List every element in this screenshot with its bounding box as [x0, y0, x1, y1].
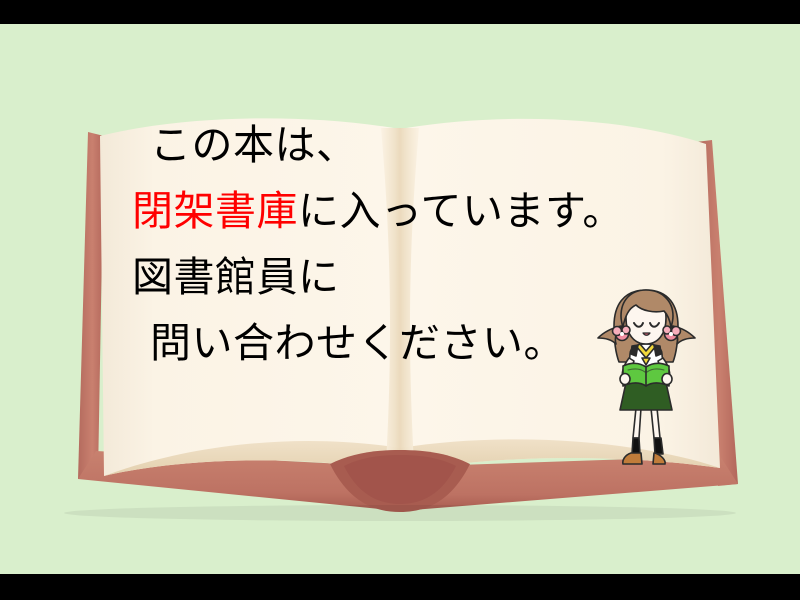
girl-mouth: [643, 333, 650, 335]
girl-collar-dark-right: [654, 345, 661, 356]
slide-canvas: この本は、 閉架書庫に入っています。 図書館員に 問い合わせください。: [0, 24, 800, 574]
message-line-2-text: に入っています。: [298, 187, 624, 235]
girl-hand-right: [662, 374, 672, 385]
girl-hand-left: [620, 374, 630, 385]
message-line-3-text: 図書館員に: [132, 253, 340, 301]
girl-leg-right: [651, 408, 660, 438]
girl-reading-illustration: [592, 282, 700, 482]
girl-sock-left: [632, 438, 640, 454]
letterbox-bottom: [0, 574, 800, 600]
girl-sock-right: [654, 438, 663, 454]
message-highlight-closed-stacks: 閉架書庫: [132, 187, 298, 235]
book-drop-shadow: [64, 505, 736, 521]
slide-stage: この本は、 閉架書庫に入っています。 図書館員に 問い合わせください。: [0, 0, 800, 600]
message-line-1: この本は、: [132, 112, 692, 178]
message-line-2: 閉架書庫に入っています。: [132, 178, 692, 244]
message-line-4-text: 問い合わせください。: [150, 319, 565, 367]
girl-collar-dark-left: [631, 345, 638, 356]
girl-shoe-left: [623, 453, 642, 464]
letterbox-top: [0, 0, 800, 24]
message-line-1-text: この本は、: [150, 121, 358, 169]
girl-leg-left: [633, 408, 641, 438]
book-cover-left: [78, 132, 104, 479]
